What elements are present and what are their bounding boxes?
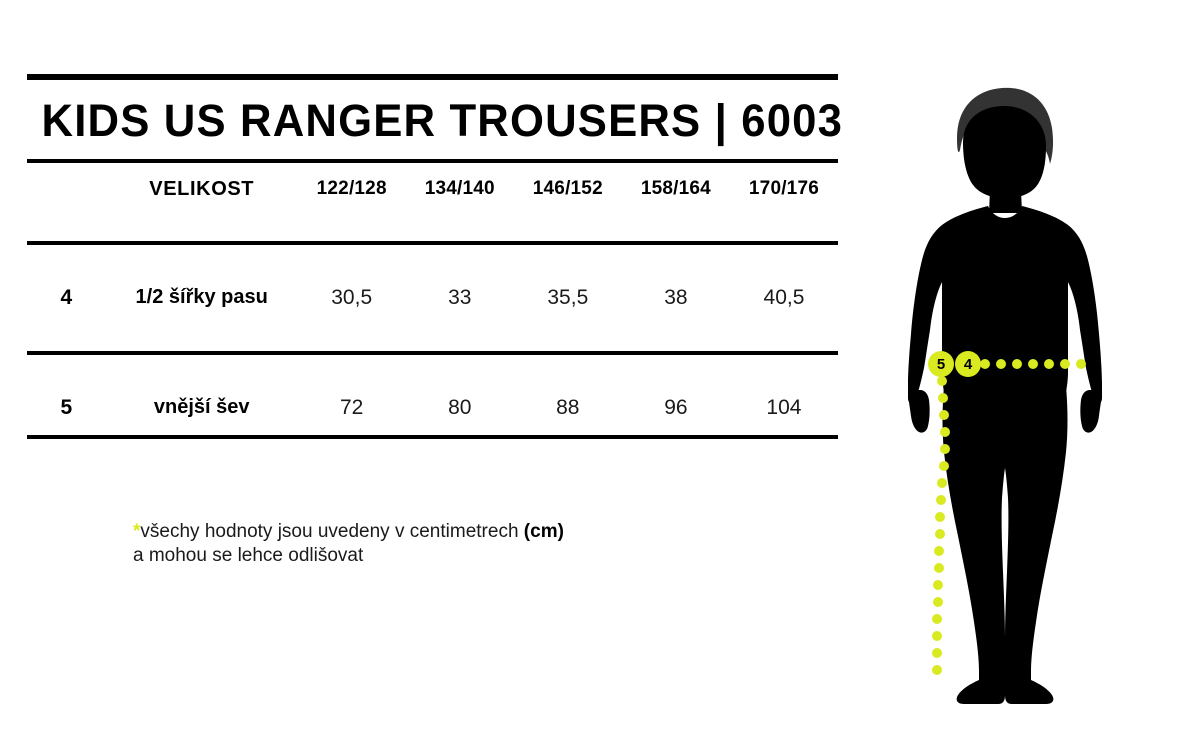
dot [933, 597, 943, 607]
outseam-measurement-line [932, 376, 962, 676]
row-0-value-3: 38 [622, 270, 730, 325]
header-number-col [27, 163, 106, 215]
dot [933, 580, 943, 590]
table-row: 5 vnější šev 72 80 88 96 104 [27, 380, 838, 435]
dot [1028, 359, 1038, 369]
row-number-5: 5 [27, 380, 106, 435]
dot [936, 495, 946, 505]
footnote-line-1: *všechy hodnoty jsou uvedeny v centimetr… [133, 520, 564, 544]
size-chart-panel: KIDS US RANGER TROUSERS | 6003 VELIKOST … [27, 74, 838, 439]
dot [940, 427, 950, 437]
left-hand-shape [908, 390, 930, 433]
table-body: 4 1/2 šířky pasu 30,5 33 35,5 38 40,5 5 … [27, 215, 838, 435]
divider-cell [27, 215, 838, 270]
row-1-value-3: 96 [622, 380, 730, 435]
row-0-value-4: 40,5 [730, 270, 838, 325]
head-shape [963, 106, 1046, 198]
body-silhouette-svg [880, 80, 1160, 720]
dot [934, 563, 944, 573]
row-divider [27, 241, 838, 245]
marker-badge-5[interactable]: 5 [928, 351, 954, 377]
table-header: VELIKOST 122/128 134/140 146/152 158/164… [27, 163, 838, 215]
row-label-outseam: vnější šev [106, 380, 298, 435]
page-title: KIDS US RANGER TROUSERS | 6003 [27, 80, 814, 159]
divider-row-1 [27, 215, 838, 270]
table-header-row: VELIKOST 122/128 134/140 146/152 158/164… [27, 163, 838, 215]
row-label-waist: 1/2 šířky pasu [106, 270, 298, 325]
footnote: *všechy hodnoty jsou uvedeny v centimetr… [133, 520, 564, 569]
dot [996, 359, 1006, 369]
table-bottom-rule [27, 435, 838, 439]
footnote-text-1: všechy hodnoty jsou uvedeny v centimetre… [140, 521, 523, 542]
dot [934, 546, 944, 556]
row-1-value-0: 72 [298, 380, 406, 435]
dot [1076, 359, 1086, 369]
footnote-unit: (cm) [524, 521, 564, 542]
table-row: 4 1/2 šířky pasu 30,5 33 35,5 38 40,5 [27, 270, 838, 325]
header-size-3: 146/152 [514, 163, 622, 215]
header-size-4: 158/164 [622, 163, 730, 215]
dot [1060, 359, 1070, 369]
body-figure: 5 4 [880, 80, 1160, 720]
waist-measurement-line [980, 359, 1064, 369]
row-number-4: 4 [27, 270, 106, 325]
right-hand-shape [1080, 390, 1102, 433]
header-size-1: 122/128 [298, 163, 406, 215]
dot [937, 376, 947, 386]
dot [932, 648, 942, 658]
divider-row-2 [27, 325, 838, 380]
dot [932, 631, 942, 641]
dot [932, 665, 942, 675]
size-table: VELIKOST 122/128 134/140 146/152 158/164… [27, 163, 838, 435]
row-0-value-0: 30,5 [298, 270, 406, 325]
dot [935, 512, 945, 522]
dot [980, 359, 990, 369]
dot [1012, 359, 1022, 369]
row-1-value-2: 88 [514, 380, 622, 435]
dot [940, 444, 950, 454]
divider-cell [27, 325, 838, 380]
dot [935, 529, 945, 539]
header-size-5: 170/176 [730, 163, 838, 215]
dot [932, 614, 942, 624]
size-chart-page: KIDS US RANGER TROUSERS | 6003 VELIKOST … [0, 0, 1204, 748]
marker-badge-4[interactable]: 4 [955, 351, 981, 377]
row-divider [27, 351, 838, 355]
dot [1044, 359, 1054, 369]
header-velikost: VELIKOST [106, 163, 298, 215]
row-1-value-1: 80 [406, 380, 514, 435]
row-1-value-4: 104 [730, 380, 838, 435]
dot [939, 410, 949, 420]
row-0-value-2: 35,5 [514, 270, 622, 325]
dot [937, 478, 947, 488]
header-size-2: 134/140 [406, 163, 514, 215]
dot [938, 393, 948, 403]
row-0-value-1: 33 [406, 270, 514, 325]
neck-shape [989, 190, 1022, 213]
footnote-line-2: a mohou se lehce odlišovat [133, 544, 564, 568]
dot [939, 461, 949, 471]
